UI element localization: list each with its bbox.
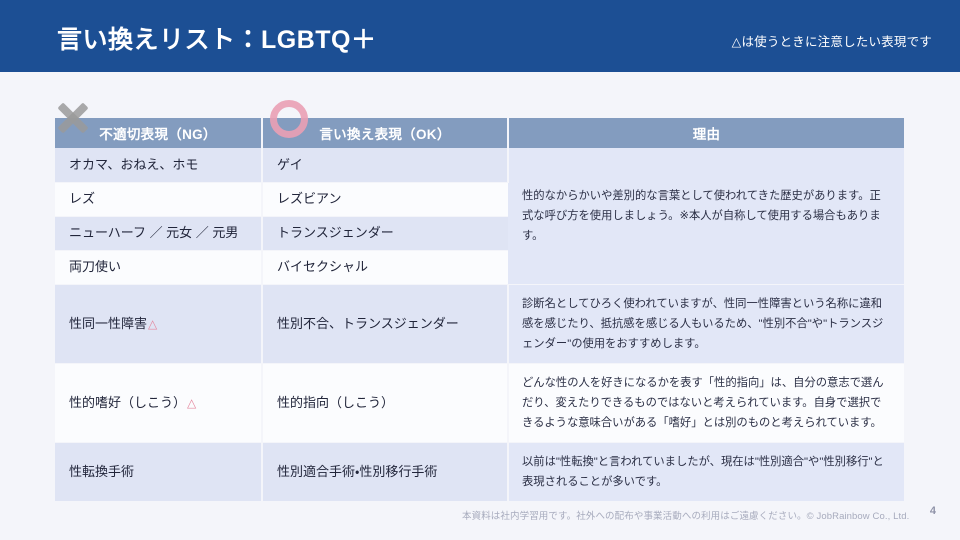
cell-ok-term: 性別不合、トランスジェンダー <box>262 284 508 363</box>
cell-ok-term: レズビアン <box>262 182 508 216</box>
slide-canvas: 言い換えリスト：LGBTQ＋ △は使うときに注意したい表現です 不適切表現（NG… <box>0 0 960 540</box>
table-header-row: 不適切表現（NG） 言い換え表現（OK） 理由 <box>55 118 904 148</box>
cell-ok-term: ゲイ <box>262 148 508 182</box>
cell-reason: 診断名としてひろく使われていますが、性同一性障害という名称に違和感を感じたり、抵… <box>508 284 904 363</box>
cell-ng-term: 性転換手術 <box>55 443 262 502</box>
cell-ok-term: 性別適合手術・性別移行手術 <box>262 443 508 502</box>
cell-ng-term: ニューハーフ ／ 元女 ／ 元男 <box>55 216 262 250</box>
table-header: 不適切表現（NG） 言い換え表現（OK） 理由 <box>55 118 904 148</box>
caution-triangle-icon: △ <box>147 317 157 331</box>
cell-ng-term: オカマ、おねえ、ホモ <box>55 148 262 182</box>
cross-mark-icon <box>52 97 94 139</box>
circle-mark-icon <box>270 100 308 138</box>
header-legend-note: △は使うときに注意したい表現です <box>732 31 932 50</box>
cell-ng-term: 両刀使い <box>55 250 262 284</box>
cell-ok-term: トランスジェンダー <box>262 216 508 250</box>
table-row: オカマ、おねえ、ホモ ゲイ 性的なからかいや差別的な言葉として使われてきた歴史が… <box>55 148 904 182</box>
table-row: 性的嗜好（しこう）△ 性的指向（しこう） どんな性の人を好きになるかを表す「性的… <box>55 363 904 442</box>
ng-term-text: 性同一性障害 <box>69 316 147 331</box>
terminology-table: 不適切表現（NG） 言い換え表現（OK） 理由 オカマ、おねえ、ホモ ゲイ 性的… <box>55 118 904 502</box>
caution-triangle-icon: △ <box>186 396 196 410</box>
cell-ng-term: 性的嗜好（しこう）△ <box>55 363 262 442</box>
cell-ok-term: バイセクシャル <box>262 250 508 284</box>
ng-term-text: 性的嗜好（しこう） <box>69 395 186 410</box>
cell-ng-term: 性同一性障害△ <box>55 284 262 363</box>
page-number: 4 <box>930 505 936 517</box>
cell-reason: どんな性の人を好きになるかを表す「性的指向」は、自分の意志で選んだり、変えたりで… <box>508 363 904 442</box>
cell-ng-term: レズ <box>55 182 262 216</box>
terminology-table-wrapper: 不適切表現（NG） 言い換え表現（OK） 理由 オカマ、おねえ、ホモ ゲイ 性的… <box>55 118 904 502</box>
table-body: オカマ、おねえ、ホモ ゲイ 性的なからかいや差別的な言葉として使われてきた歴史が… <box>55 148 904 502</box>
page-title: 言い換えリスト：LGBTQ＋ <box>57 20 377 56</box>
column-header-reason: 理由 <box>508 118 904 148</box>
cell-reason: 性的なからかいや差別的な言葉として使われてきた歴史があります。正式な呼び方を使用… <box>508 148 904 284</box>
table-row: 性同一性障害△ 性別不合、トランスジェンダー 診断名としてひろく使われていますが… <box>55 284 904 363</box>
table-row: 性転換手術 性別適合手術・性別移行手術 以前は"性転換"と言われていましたが、現… <box>55 443 904 502</box>
cell-reason: 以前は"性転換"と言われていましたが、現在は"性別適合"や"性別移行"と表現され… <box>508 443 904 502</box>
slide-header-band: 言い換えリスト：LGBTQ＋ △は使うときに注意したい表現です <box>0 0 960 72</box>
cell-ok-term: 性的指向（しこう） <box>262 363 508 442</box>
footer-disclaimer: 本資料は社内学習用です。社外への配布や事業活動への利用はご遠慮ください。© Jo… <box>462 508 909 522</box>
